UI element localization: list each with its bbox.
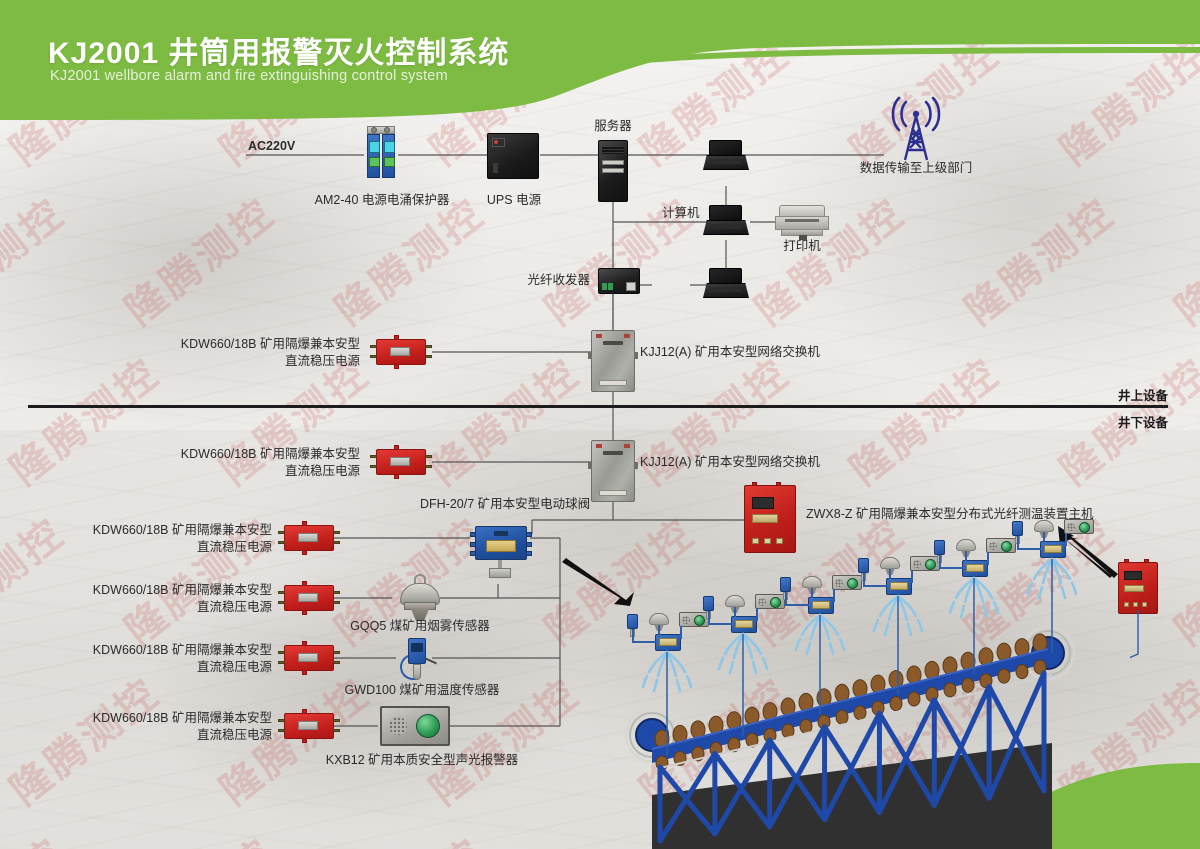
header-banner: KJ2001 井筒用报警灭火控制系统 KJ2001 wellbore alarm… [0,0,1200,130]
station-link [677,637,682,639]
kdw-psu-surface [370,337,432,367]
computer-label: 计算机 [662,205,700,222]
antenna-icon [884,96,948,162]
antenna-label: 数据传输至上级部门 [846,160,986,177]
station-temperature-sensor [627,614,638,629]
station-link [811,588,813,598]
kdw-psu-u0 [370,447,432,477]
station-junction-tag [735,620,753,628]
gwd100-label: GWD100 煤矿用温度传感器 [340,682,504,699]
station-temperature-sensor [858,558,869,573]
station-alarm-lens [1001,541,1012,552]
station-link [830,600,835,602]
water-spray [864,594,934,696]
kdw-psu-u4 [278,711,340,741]
water-spray [633,650,703,758]
station-smoke-sensor [1034,520,1054,532]
station-alarm-grille [1067,523,1075,531]
conveyor-roller [1016,665,1028,679]
station-link [939,567,963,569]
kdw-psu-u4-label: KDW660/18B 矿用隔爆兼本安型 直流稳压电源 [72,710,272,744]
am2-40-label: AM2-40 电源电涌保护器 [306,192,458,209]
station-link [658,625,660,635]
kxb12-label: KXB12 矿用本质安全型声光报警器 [312,752,532,769]
station-temperature-sensor [934,540,945,555]
station-junction-tag [659,638,677,646]
conveyor-roller [962,678,974,692]
station-link [1062,544,1067,546]
gqq5-label: GQQ5 煤矿用烟雾传感器 [346,618,494,635]
kjj12-switch-surface-label: KJJ12(A) 矿用本安型网络交换机 [640,344,820,361]
station-temperature-sensor [703,596,714,611]
kxb-alarm-box-right [1118,562,1158,614]
computer-laptop-3 [703,268,749,300]
station-link [863,585,887,587]
station-link [965,551,967,561]
kdw-psu-surface-label: KDW660/18B 矿用隔爆兼本安型 直流稳压电源 [160,336,360,370]
station-alarm-lens [1079,522,1090,533]
kjj12-switch-surface [591,330,635,392]
radio-antenna-tower [884,96,948,162]
station-temperature-sensor [1012,521,1023,536]
zwx8-z-dts-host [744,485,796,553]
fiber-media-converter [598,268,640,294]
conveyor-roller [800,719,812,733]
diagram-canvas: 隆腾测控隆腾测控隆腾测控隆腾测控隆腾测控隆腾测控隆腾测控隆腾测控隆腾测控隆腾测控… [0,0,1200,849]
station-temperature-sensor [780,577,791,592]
station-alarm-grille [835,579,843,587]
computer-laptop-1 [703,140,749,172]
right-box-wire [1130,610,1200,690]
am2-40-surge-protector [364,126,398,184]
station-link [889,569,891,579]
fiber-converter-label: 光纤收发器 [494,272,590,289]
station-junction-tag [966,564,984,572]
sprinkler-station [1012,519,1108,565]
station-smoke-sensor [880,557,900,569]
surface-underground-divider [28,405,1168,408]
kdw-psu-u2-label: KDW660/18B 矿用隔爆兼本安型 直流稳压电源 [72,582,272,616]
kdw-psu-u1-label: KDW660/18B 矿用隔爆兼本安型 直流稳压电源 [72,522,272,556]
printer [775,205,829,241]
kjj12-switch-underground [591,440,635,502]
ups-label: UPS 电源 [480,192,548,209]
station-link [908,581,913,583]
page-subtitle: KJ2001 wellbore alarm and fire extinguis… [50,68,448,84]
water-spray [1018,557,1088,655]
station-alarm-grille [682,616,690,624]
station-link [734,607,736,617]
ac-input-label: AC220V [248,138,295,155]
station-smoke-sensor [956,539,976,551]
kjj12-switch-underground-label: KJJ12(A) 矿用本安型网络交换机 [640,454,820,471]
surface-equipment-label: 井上设备 [1118,385,1168,404]
station-junction-tag [1044,545,1062,553]
station-alarm-lens [847,578,858,589]
kdw-psu-u3 [278,643,340,673]
water-spray [940,576,1010,676]
station-link [708,623,732,625]
station-smoke-sensor [802,576,822,588]
station-smoke-sensor [649,613,669,625]
station-alarm-grille [758,598,766,606]
station-alarm-grille [913,560,921,568]
station-junction-tag [890,582,908,590]
station-junction-tag [812,601,830,609]
station-link [1017,548,1041,550]
kxb12-audible-visual-alarm [380,706,450,746]
kdw-psu-u0-label: KDW660/18B 矿用隔爆兼本安型 直流稳压电源 [160,446,360,480]
conveyor-roller [944,683,956,697]
station-link [785,604,809,606]
station-link [632,641,656,643]
station-link [753,619,758,621]
conveyor-roller [890,697,902,711]
ups-power-supply [487,133,539,179]
kdw-psu-u2 [278,583,340,613]
server-tower [598,140,628,202]
kdw-psu-u1 [278,523,340,553]
station-smoke-sensor [725,595,745,607]
station-link [984,563,989,565]
computer-laptop-2 [703,205,749,237]
water-spray [786,613,856,717]
dfh-valve-label: DFH-20/7 矿用本安型电动球阀 [420,496,590,513]
kdw-psu-u3-label: KDW660/18B 矿用隔爆兼本安型 直流稳压电源 [72,642,272,676]
station-alarm-grille [989,542,997,550]
station-link [1043,532,1045,542]
server-label: 服务器 [578,118,648,135]
dfh-20-7-electric-ball-valve [470,522,532,584]
underground-equipment-label: 井下设备 [1118,412,1168,431]
printer-label: 打印机 [768,238,836,255]
page-title: KJ2001 井筒用报警灭火控制系统 [48,28,509,72]
water-spray [709,632,779,738]
gwd100-temperature-sensor [396,636,438,688]
